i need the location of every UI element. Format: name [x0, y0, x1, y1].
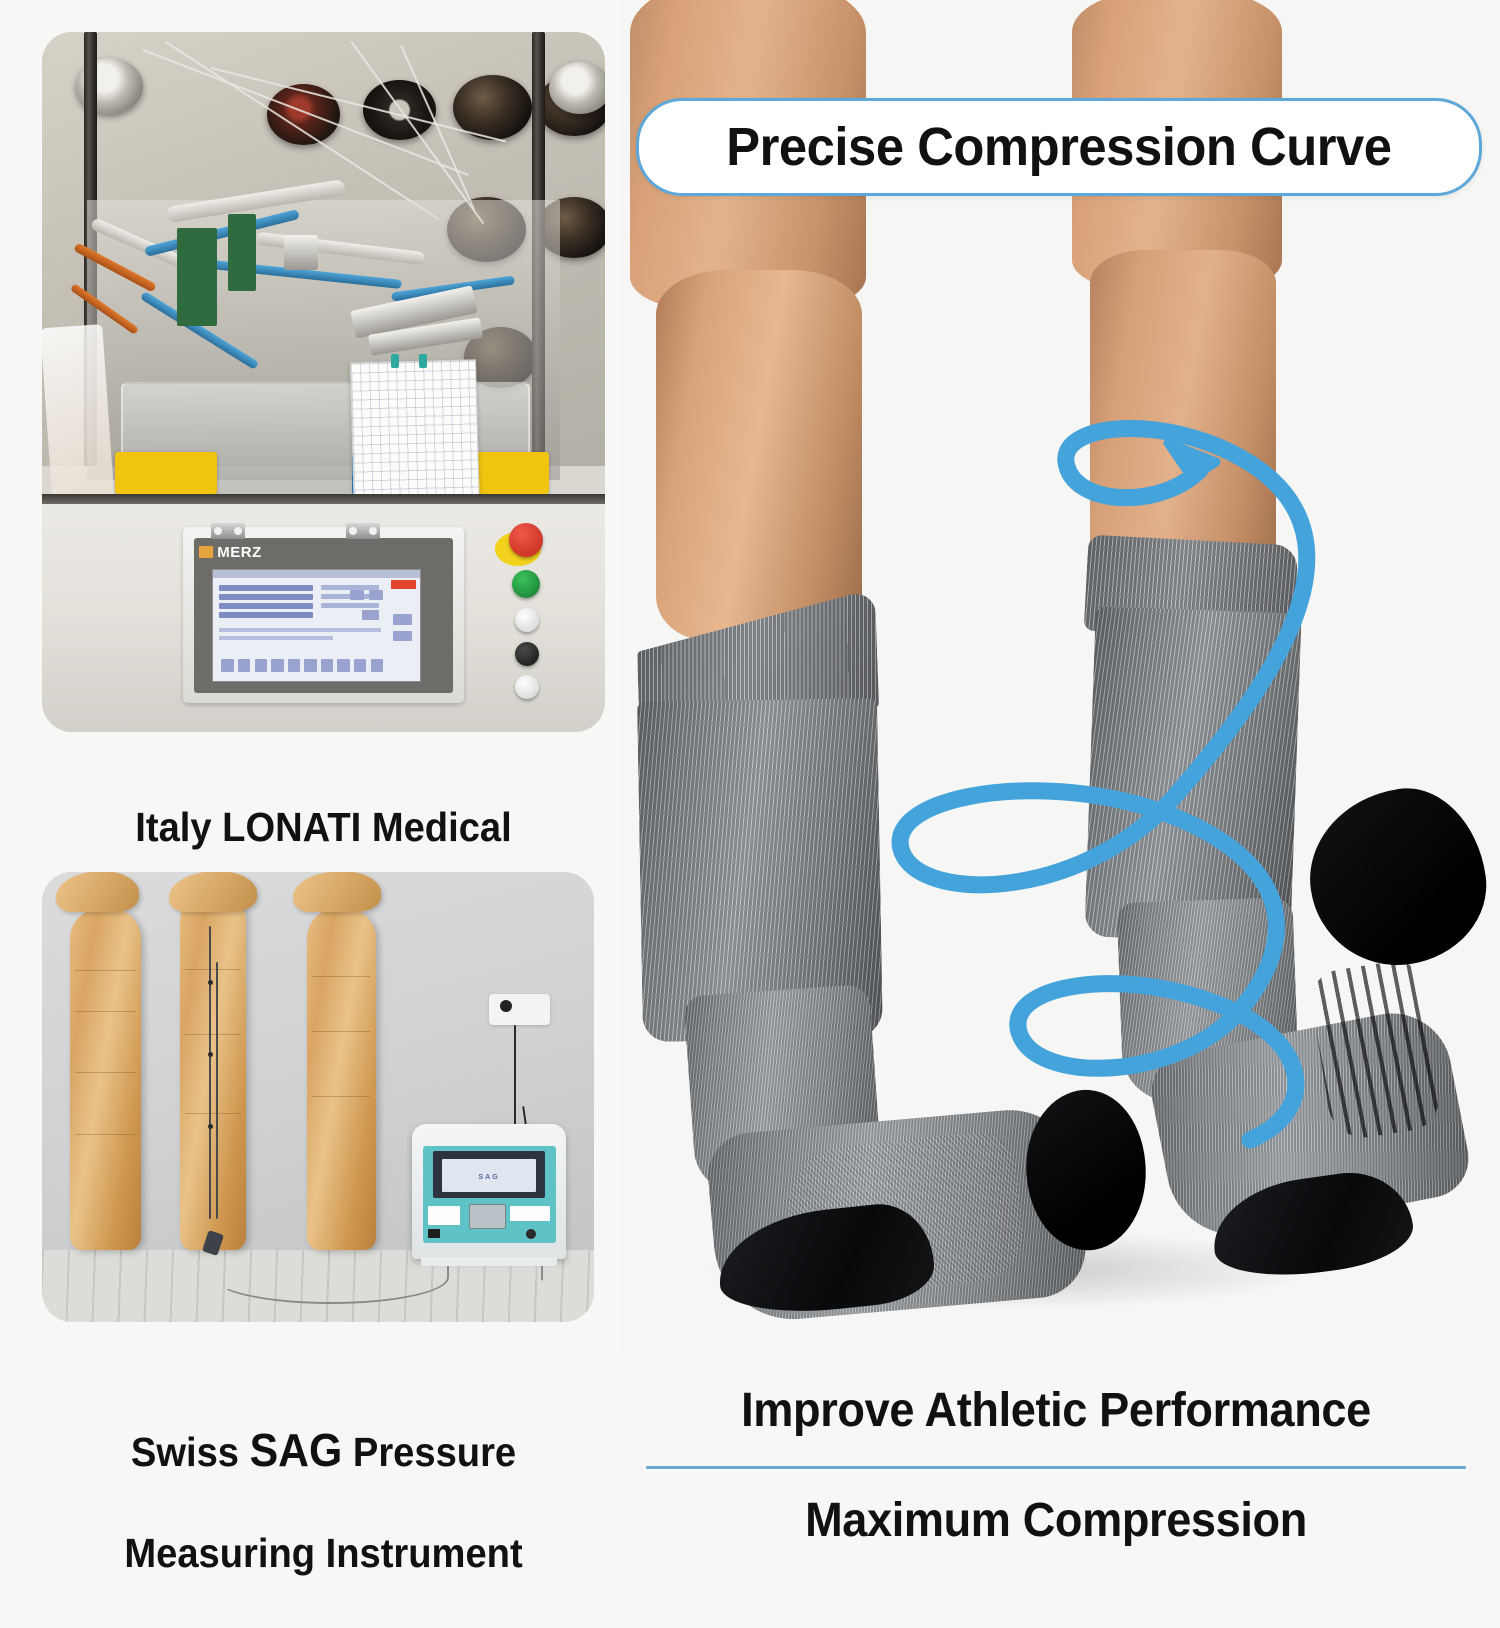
lcd-key: [393, 614, 412, 624]
emergency-stop-button[interactable]: [509, 523, 543, 557]
compression-sock-photo: [620, 0, 1500, 1352]
binder-clip: [391, 354, 399, 368]
wooden-leg-foot: [56, 872, 139, 912]
lcd-button: [369, 590, 384, 600]
sag-caption-pre: Swiss: [131, 1429, 250, 1475]
sag-device-badge: [428, 1206, 460, 1225]
sag-device-model-label: [510, 1206, 550, 1222]
merz-logo-mark: [199, 546, 213, 558]
probe-sensor-point: [208, 1052, 213, 1057]
lcd-row: [219, 594, 312, 600]
lcd-alarm-indicator: [391, 580, 416, 589]
sag-device-port: [469, 1204, 506, 1229]
front-leg-calf: [656, 270, 862, 640]
hero-caption: Improve Athletic Performance Maximum Com…: [636, 1362, 1476, 1570]
control-panel-lcd: [212, 569, 421, 683]
lcd-row: [219, 628, 381, 632]
lcd-key: [371, 659, 383, 672]
sag-device-switch[interactable]: [428, 1229, 440, 1238]
lcd-key: [221, 659, 233, 672]
function-button-white-1[interactable]: [515, 608, 539, 632]
lcd-row: [321, 603, 379, 607]
sag-measuring-device: SAG: [412, 1124, 567, 1259]
back-leg-calf: [1090, 250, 1276, 580]
back-sock-leg: [1084, 607, 1301, 944]
wooden-leg-form: [180, 890, 246, 1250]
hero-caption-line1: Improve Athletic Performance: [661, 1382, 1451, 1441]
sag-caption-line2: Measuring Instrument: [62, 1528, 586, 1578]
circuit-board: [177, 228, 216, 326]
machine-part: [284, 235, 318, 270]
panel-hinge: [346, 523, 380, 539]
lcd-button: [350, 590, 365, 600]
lcd-button: [362, 610, 379, 620]
lcd-key: [271, 659, 283, 672]
lcd-row: [219, 585, 312, 591]
lcd-key: [238, 659, 250, 672]
back-sock-heel: [1299, 779, 1497, 977]
console-edge: [42, 494, 605, 504]
sag-device-lcd: SAG: [442, 1159, 536, 1192]
machine-console: MERZ: [42, 494, 605, 732]
lcd-key: [393, 631, 412, 641]
wooden-leg-form: [307, 908, 376, 1250]
function-button-black[interactable]: [515, 642, 539, 666]
wooden-leg-form: [70, 908, 142, 1250]
lcd-key: [288, 659, 300, 672]
lcd-key: [321, 659, 333, 672]
probe-sensor-point: [208, 980, 213, 985]
sag-device-face: SAG: [423, 1146, 556, 1243]
infographic-stage: MERZ: [0, 0, 1500, 1500]
lcd-row: [219, 603, 312, 609]
sag-caption-brand: SAG: [250, 1424, 343, 1476]
lcd-key: [304, 659, 316, 672]
lcd-key: [354, 659, 366, 672]
circuit-board: [228, 214, 256, 291]
control-panel-case: MERZ: [183, 527, 465, 703]
lcd-row: [219, 636, 333, 640]
yellow-terminal-block: [115, 452, 216, 494]
control-panel-inner: MERZ: [194, 538, 453, 693]
wooden-leg-foot: [169, 872, 257, 912]
probe-sensor-point: [208, 1124, 213, 1129]
title-banner-text: Precise Compression Curve: [726, 116, 1391, 178]
sag-caption-line1: Swiss SAG Pressure: [62, 1422, 586, 1478]
power-cord: [514, 1025, 516, 1133]
lcd-key: [255, 659, 267, 672]
function-button-white-2[interactable]: [515, 675, 539, 699]
machine-photo: MERZ: [42, 32, 605, 732]
sag-device-stand: [421, 1257, 557, 1266]
lcd-row: [219, 612, 312, 618]
lcd-key: [337, 659, 349, 672]
merz-wordmark: MERZ: [217, 544, 262, 561]
panel-hinge: [211, 523, 245, 539]
sag-device-connector: [526, 1229, 536, 1239]
hero-caption-divider: [646, 1466, 1466, 1469]
wall-socket: [489, 994, 550, 1026]
sag-photo: SAG: [42, 872, 594, 1322]
title-banner: Precise Compression Curve: [636, 98, 1482, 196]
start-button[interactable]: [512, 570, 540, 598]
wooden-leg-foot: [293, 872, 381, 912]
hero-caption-line2: Maximum Compression: [661, 1492, 1451, 1551]
sag-caption-post: Pressure: [342, 1429, 516, 1475]
machine-caption-line1: Italy LONATI Medical: [62, 802, 586, 852]
binder-clip: [419, 354, 427, 368]
lcd-menubar: [213, 570, 420, 578]
sag-device-screen: SAG: [433, 1151, 545, 1198]
sag-caption: Swiss SAG Pressure Measuring Instrument: [62, 1372, 586, 1628]
pressure-probe-cable: [209, 926, 211, 1219]
sag-device-brand-text: SAG: [442, 1174, 536, 1181]
